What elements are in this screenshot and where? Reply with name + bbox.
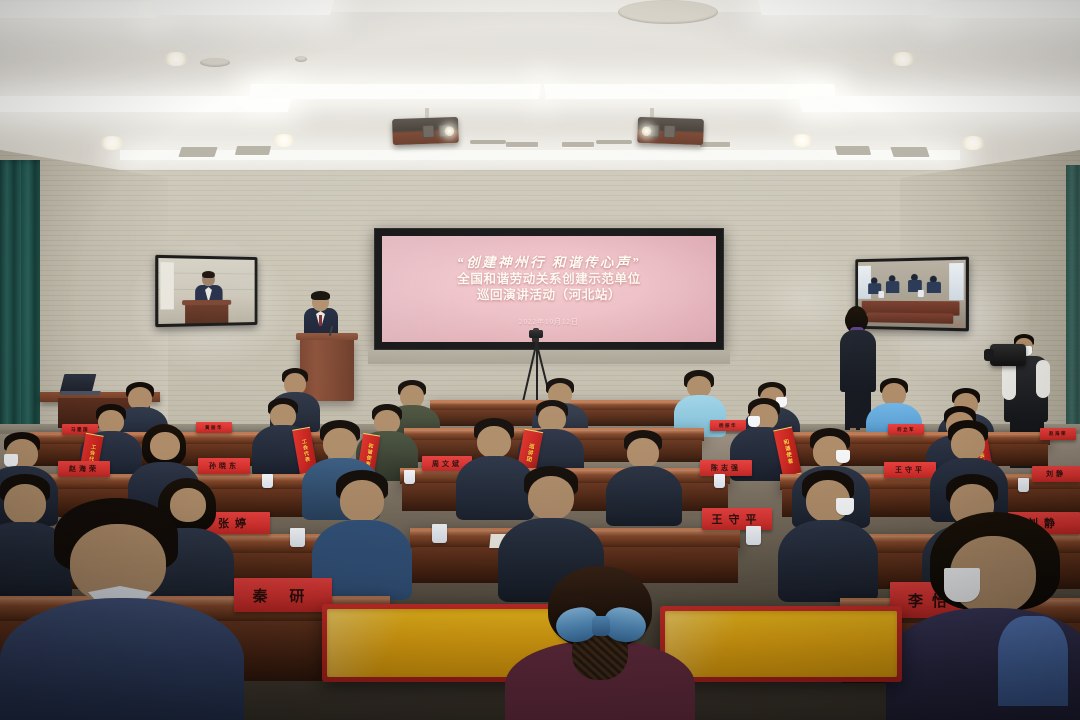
ceiling-diffuser bbox=[835, 146, 871, 155]
tripod-camera bbox=[529, 330, 543, 338]
name-card: 王守平 bbox=[884, 462, 936, 478]
water-cup bbox=[746, 526, 761, 545]
ceiling-diffuser bbox=[562, 142, 594, 147]
ceiling bbox=[0, 0, 1080, 186]
name-card: 黄丽华 bbox=[196, 422, 232, 433]
videographer-sleeve bbox=[1036, 360, 1050, 398]
recessed-downlight bbox=[163, 52, 189, 66]
face-mask bbox=[836, 498, 854, 515]
podium-top-surface bbox=[296, 333, 358, 340]
conference-hall-photo: “创建神州行 和谐传心声” 全国和谐劳动关系创建示范单位 巡回演讲活动（河北站）… bbox=[0, 0, 1080, 720]
ceiling-diffuser bbox=[506, 142, 538, 147]
slide-date: 2022年10月12日 bbox=[519, 317, 579, 327]
slide-headline: “创建神州行 和谐传心声” bbox=[457, 251, 641, 271]
camera-lens-icon bbox=[984, 349, 994, 361]
speaker-tie bbox=[319, 315, 322, 326]
ceiling-projector-right bbox=[637, 117, 704, 145]
ceiling-light-panel bbox=[249, 84, 541, 99]
water-cup bbox=[714, 474, 725, 488]
video-camera bbox=[990, 344, 1026, 366]
speaker-podium bbox=[300, 337, 354, 401]
window-curtain-left bbox=[0, 160, 40, 460]
projector-lens-icon bbox=[444, 126, 454, 136]
window-curtain-right bbox=[1066, 165, 1080, 425]
screen-lower-wall-panel bbox=[368, 350, 730, 364]
recessed-downlight bbox=[890, 52, 916, 66]
videographer-sleeve bbox=[1002, 360, 1016, 400]
projector-plate bbox=[470, 140, 506, 144]
projector-plate bbox=[596, 140, 632, 144]
face-mask bbox=[944, 568, 980, 602]
ceiling-dome-fixture bbox=[200, 58, 230, 67]
name-card: 赵海荣 bbox=[58, 461, 110, 477]
right-monitor-screen: REC bbox=[858, 260, 966, 328]
water-cup bbox=[262, 474, 273, 488]
recessed-downlight bbox=[960, 136, 986, 150]
face-mask bbox=[836, 450, 850, 463]
tray-cloth bbox=[665, 611, 897, 677]
name-card: 杨振华 bbox=[710, 420, 746, 431]
laptop-base bbox=[59, 391, 101, 395]
ceiling-dome-fixture bbox=[295, 56, 307, 62]
ceiling-light-panel bbox=[926, 2, 1080, 18]
award-tray-right bbox=[660, 606, 902, 682]
name-card: 陈志强 bbox=[700, 460, 752, 476]
monitor-rec-badge: REC bbox=[956, 322, 964, 326]
main-projection-screen: “创建神州行 和谐传心声” 全国和谐劳动关系创建示范单位 巡回演讲活动（河北站）… bbox=[374, 228, 724, 350]
name-card: 刘静 bbox=[1032, 466, 1080, 482]
slide-subtitle-1: 全国和谐劳动关系创建示范单位 bbox=[457, 272, 640, 288]
tripod-leg bbox=[536, 341, 538, 405]
ceiling-diffuser bbox=[178, 147, 217, 157]
face-mask bbox=[748, 416, 760, 427]
slide-content: “创建神州行 和谐传心声” 全国和谐劳动关系创建示范单位 巡回演讲活动（河北站）… bbox=[382, 236, 716, 342]
bow-knot bbox=[592, 616, 610, 636]
ceiling-light-panel bbox=[798, 96, 1080, 112]
name-card: 王守平 bbox=[702, 508, 772, 530]
ceiling-projector-left bbox=[392, 117, 459, 145]
slide-subtitle-2: 巡回演讲活动（河北站） bbox=[477, 288, 621, 304]
name-card: 赵海荣 bbox=[1040, 428, 1076, 440]
ceiling-diffuser bbox=[700, 142, 730, 147]
left-wall-monitor bbox=[155, 255, 257, 327]
ceiling-light-panel bbox=[0, 2, 164, 18]
recessed-downlight bbox=[790, 134, 814, 147]
attendee-scarf bbox=[998, 616, 1068, 706]
water-cup bbox=[290, 528, 305, 547]
ceiling-dome-fixture bbox=[618, 0, 718, 24]
hair-bow-accessory bbox=[556, 608, 646, 644]
left-monitor-screen bbox=[158, 258, 254, 324]
name-card: 孙晓东 bbox=[198, 458, 250, 474]
ceiling-diffuser bbox=[890, 147, 929, 157]
name-card: 何立军 bbox=[888, 424, 924, 435]
name-card-front-left: 秦 研 bbox=[234, 578, 332, 612]
water-cup bbox=[404, 470, 415, 484]
ceiling-diffuser bbox=[235, 146, 271, 155]
ceiling-light-panel bbox=[758, 0, 942, 15]
recessed-downlight bbox=[272, 134, 296, 147]
ceiling-light-panel bbox=[150, 0, 334, 15]
ceiling-light-panel bbox=[544, 84, 836, 99]
water-cup bbox=[432, 524, 447, 543]
water-cup bbox=[1018, 478, 1029, 492]
right-wall-monitor: REC bbox=[855, 257, 969, 332]
speaker-hair bbox=[311, 291, 330, 300]
recessed-downlight bbox=[99, 136, 125, 150]
